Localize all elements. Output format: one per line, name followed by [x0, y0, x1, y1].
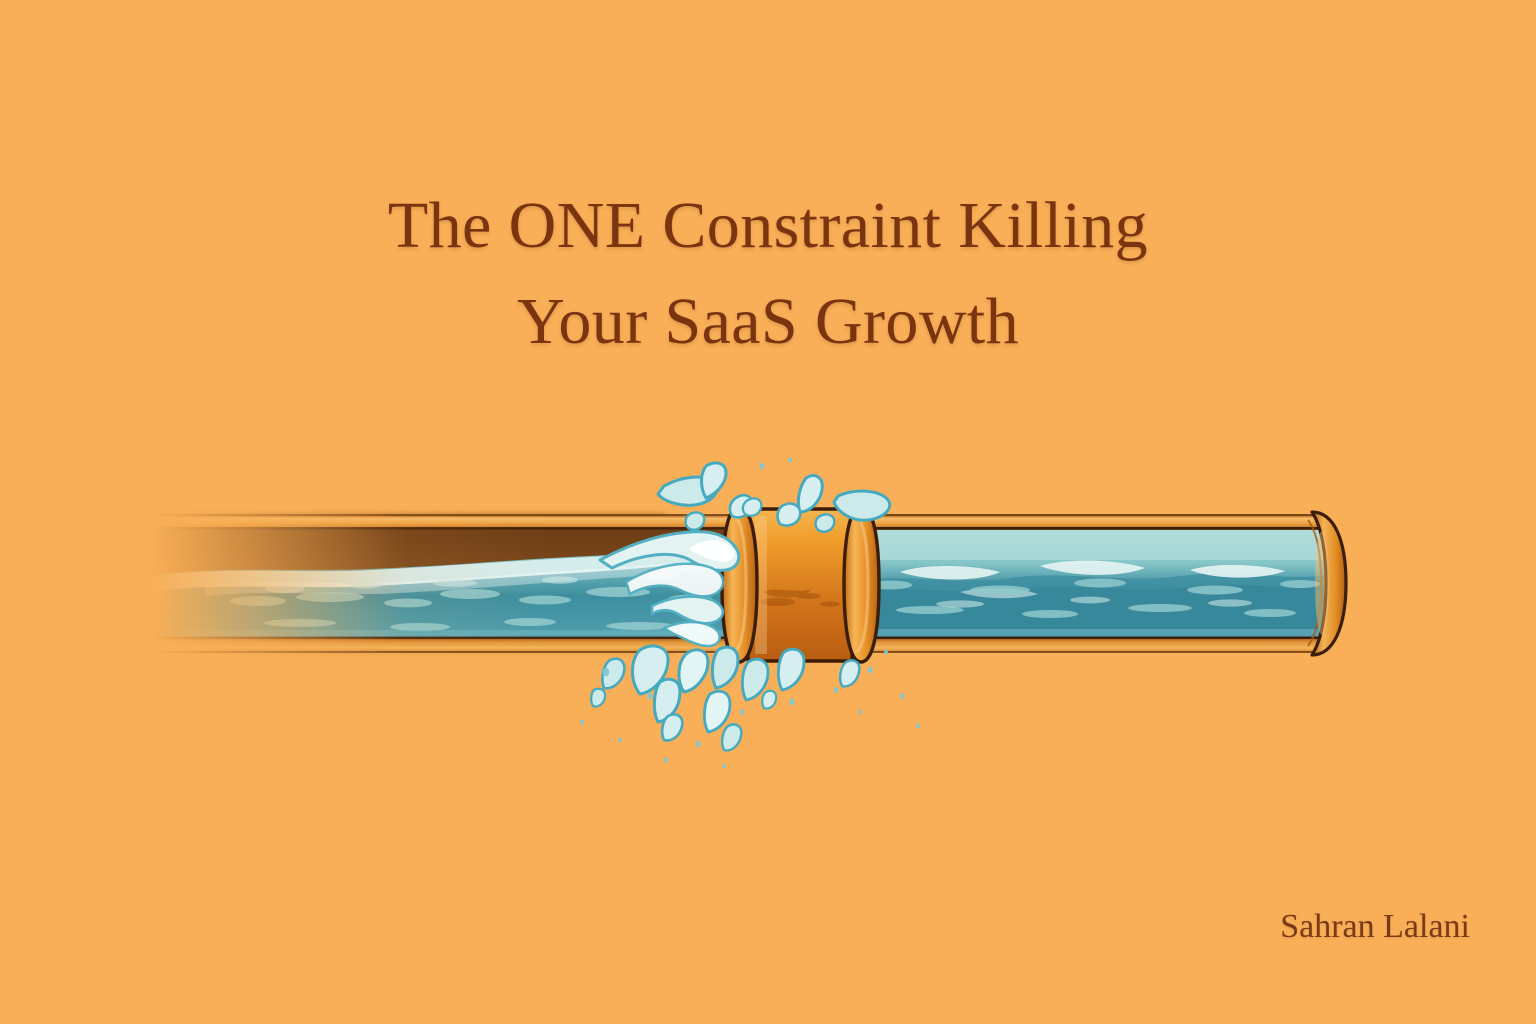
pipe-section-right	[846, 514, 1324, 653]
pipe-coupling-joint	[722, 507, 879, 662]
poster-canvas: The ONE Constraint Killing Your SaaS Gro…	[0, 0, 1536, 1024]
author-byline: Sahran Lalani	[1280, 908, 1470, 946]
leaking-pipe-illustration	[0, 0, 1536, 1024]
water-right	[846, 530, 1324, 639]
